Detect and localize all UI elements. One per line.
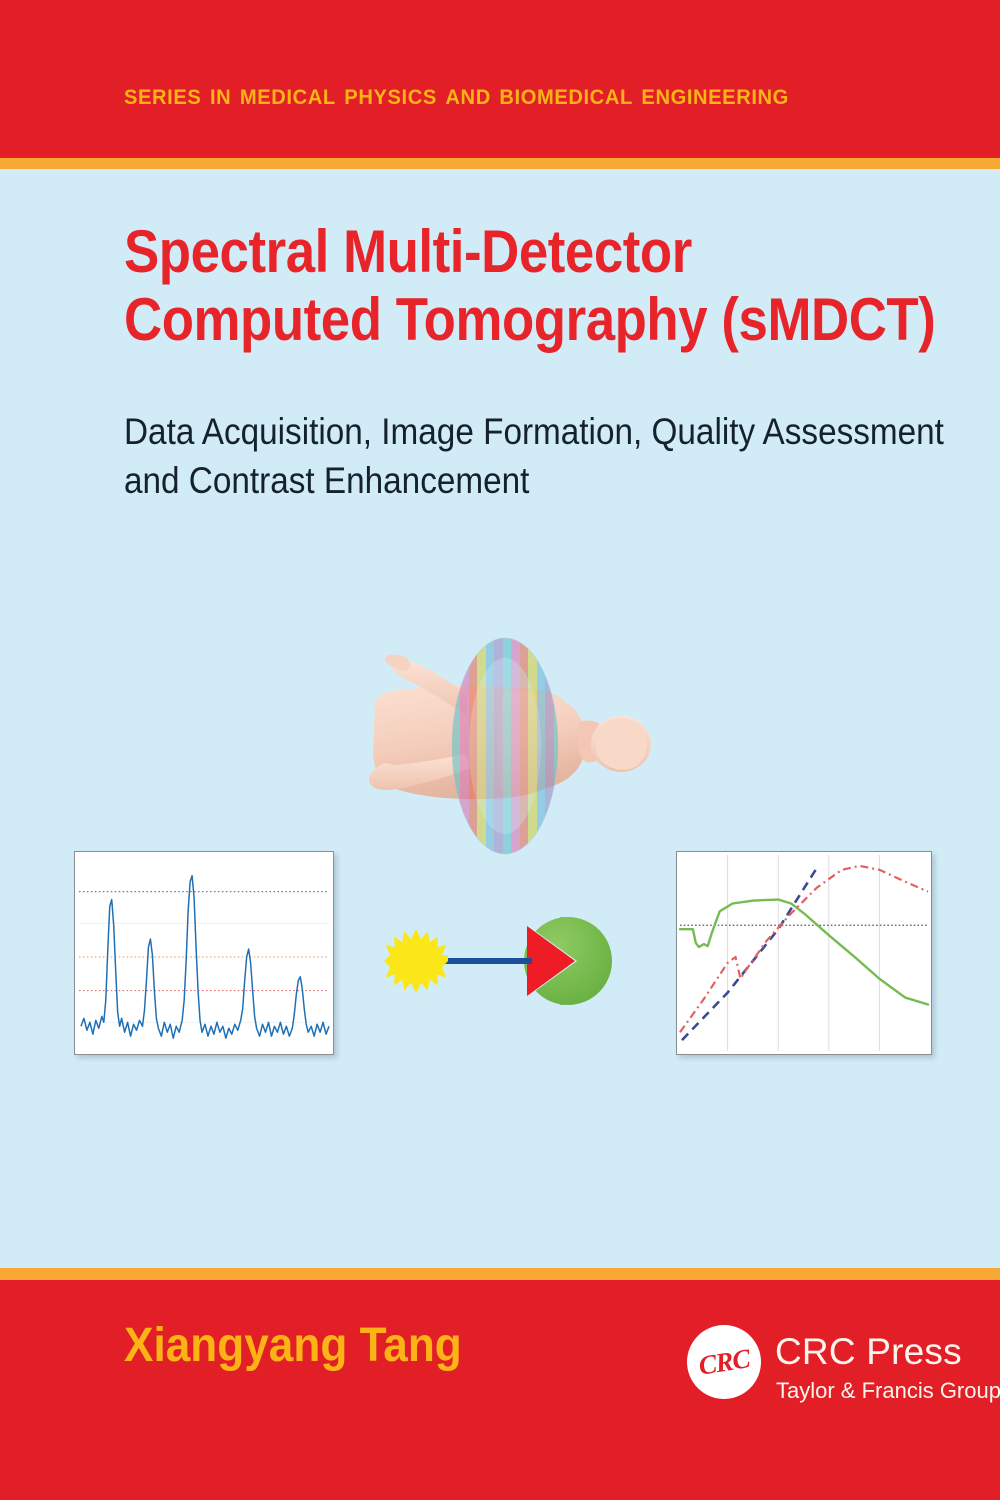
signal-chart-panel — [74, 851, 334, 1055]
curves-chart-panel — [676, 851, 932, 1055]
ct-scanner-illustration — [355, 618, 655, 863]
page-subtitle: Data Acquisition, Image Formation, Quali… — [124, 408, 880, 506]
series-banner-text: Series in Medical Physics and Biomedical… — [124, 78, 789, 112]
source-detector-diagram — [372, 905, 640, 1017]
title-line-2: Computed Tomography (sMDCT) — [124, 286, 846, 354]
xray-source-icon — [384, 929, 448, 993]
subtitle-line-1: Data Acquisition, Image Formation, Quali… — [124, 408, 880, 457]
top-orange-stripe — [0, 158, 1000, 169]
crc-monogram: CRC — [682, 1320, 767, 1405]
ct-gantry-rings — [452, 636, 562, 856]
author-name: Xiangyang Tang — [124, 1318, 462, 1373]
publisher-imprint: Taylor & Francis Group — [776, 1378, 1000, 1404]
crc-circle-mark: CRC — [687, 1325, 761, 1399]
publisher-name: CRC Press — [775, 1331, 962, 1373]
book-cover: Series in Medical Physics and Biomedical… — [0, 0, 1000, 1500]
bottom-orange-stripe — [0, 1268, 1000, 1280]
page-title: Spectral Multi-Detector Computed Tomogra… — [124, 218, 846, 355]
title-line-1: Spectral Multi-Detector — [124, 218, 846, 286]
publisher-logo: CRC CRC Press Taylor & Francis Group — [687, 1323, 937, 1419]
subtitle-line-2: and Contrast Enhancement — [124, 457, 880, 506]
